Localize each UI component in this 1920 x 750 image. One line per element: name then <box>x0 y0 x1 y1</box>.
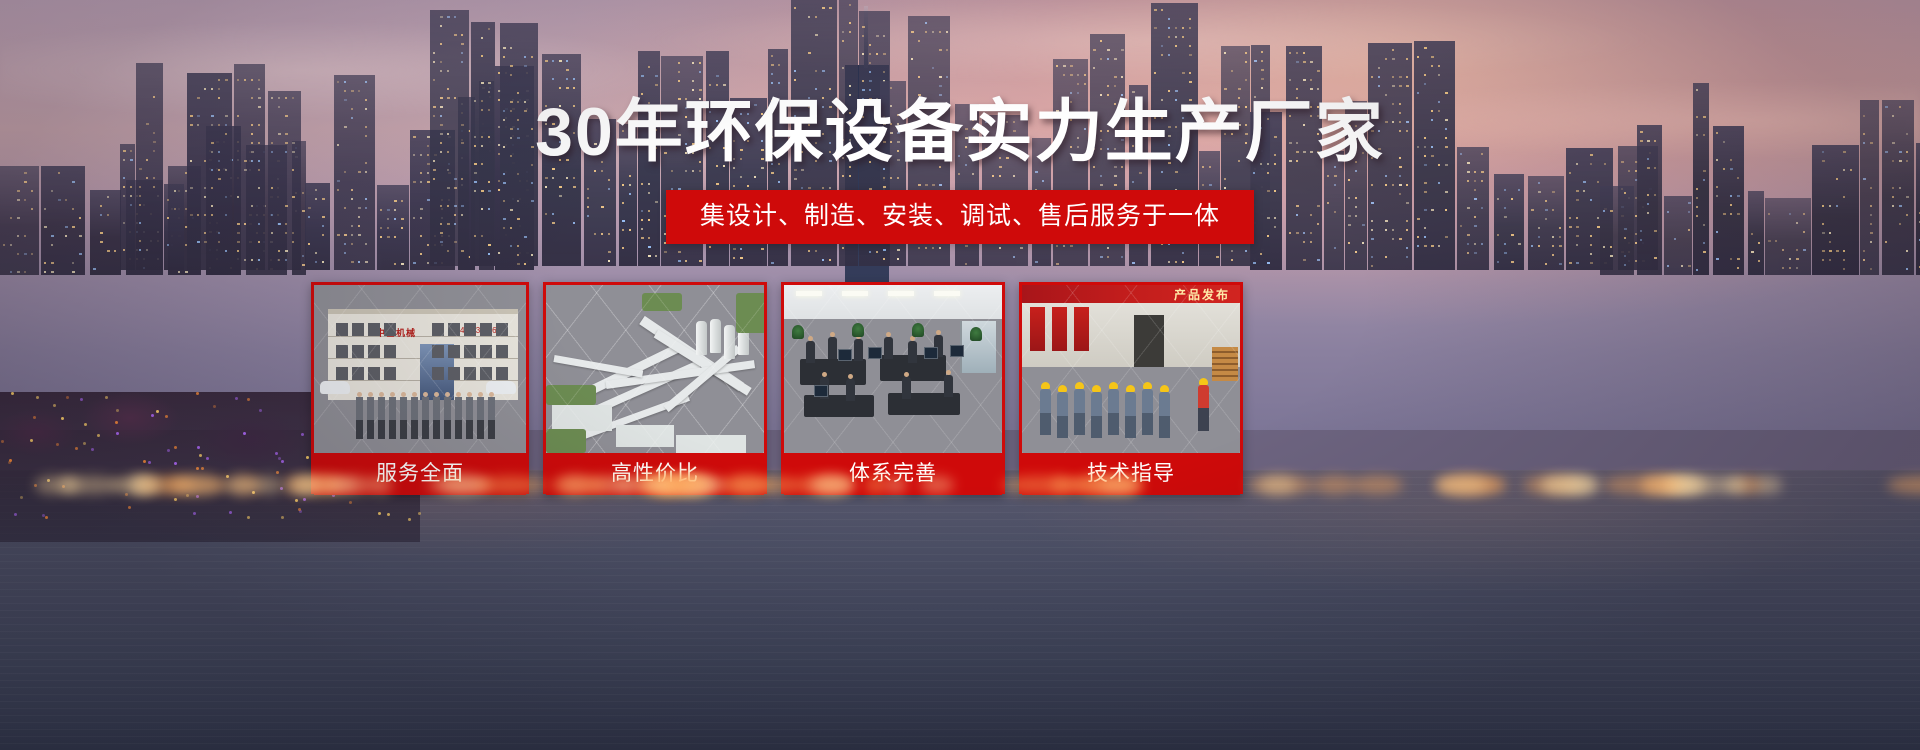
building-window <box>496 345 508 358</box>
building-window <box>352 323 364 336</box>
park-light <box>295 499 298 502</box>
feature-card[interactable]: 体系完善 <box>781 282 1005 494</box>
building-window <box>336 345 348 358</box>
monitor <box>924 347 938 359</box>
shore-light <box>1352 476 1403 494</box>
park-light <box>281 516 284 519</box>
park-light <box>156 410 159 413</box>
subtitle-ribbon: 集设计、制造、安装、调试、售后服务于一体 <box>666 190 1254 244</box>
shore-light <box>1435 476 1487 494</box>
supervisor <box>1198 385 1209 431</box>
park-light <box>408 518 411 521</box>
park-light <box>213 405 216 408</box>
building-window <box>432 367 444 380</box>
park-light <box>301 433 304 436</box>
park-light <box>61 417 64 420</box>
staff-person <box>422 397 429 439</box>
staff-person <box>411 397 418 439</box>
potted-plant <box>792 325 804 339</box>
office-person <box>828 337 837 359</box>
workshop-banner-text: 产品发布 <box>1022 285 1240 305</box>
park-light <box>186 494 189 497</box>
shore-light <box>161 476 228 494</box>
park-light <box>276 471 279 474</box>
park-light <box>387 513 390 516</box>
park-light <box>193 512 196 515</box>
staff-person <box>455 397 462 439</box>
staff-person <box>444 397 451 439</box>
park-light <box>20 496 23 499</box>
park-light <box>199 454 202 457</box>
staff-person <box>400 397 407 439</box>
park-light <box>275 452 278 455</box>
park-light <box>281 460 284 463</box>
park-light <box>8 461 11 464</box>
potted-plant <box>912 323 924 337</box>
building-window <box>384 323 396 336</box>
shore-light <box>325 476 356 494</box>
staff-person <box>367 397 374 439</box>
park-light <box>349 501 352 504</box>
park-light <box>97 434 100 437</box>
monitor <box>950 345 964 357</box>
park-light <box>36 396 39 399</box>
park-light <box>196 467 199 470</box>
park-light <box>83 442 86 445</box>
park-light <box>66 396 69 399</box>
parked-car <box>320 381 350 394</box>
park-light <box>91 448 94 451</box>
vertical-banner <box>1030 307 1045 351</box>
shore-light <box>1670 476 1744 494</box>
shore-light <box>1314 476 1356 494</box>
office-person <box>884 337 893 359</box>
factory-worker <box>1159 392 1170 438</box>
staff-person <box>466 397 473 439</box>
park-light <box>42 514 45 517</box>
potted-plant <box>970 327 982 341</box>
park-light <box>306 456 309 459</box>
storage-silo <box>710 319 721 353</box>
park-light <box>201 467 204 470</box>
green-area <box>642 293 682 311</box>
park-light <box>115 421 118 424</box>
park-light <box>11 392 14 395</box>
factory-worker <box>1074 389 1085 435</box>
park-light <box>53 404 56 407</box>
shore-light <box>125 476 163 494</box>
green-area <box>736 293 764 333</box>
shore-light <box>61 476 122 494</box>
building-window <box>480 367 492 380</box>
factory-worker <box>1108 389 1119 435</box>
factory-worker <box>1057 392 1068 438</box>
factory-worker <box>1142 389 1153 435</box>
shore-light <box>253 476 283 494</box>
potted-plant <box>852 323 864 337</box>
building-window <box>352 345 364 358</box>
park-light <box>206 457 209 460</box>
park-light <box>167 449 170 452</box>
shore-light <box>765 476 794 494</box>
staff-person <box>433 397 440 439</box>
shore-light <box>1259 476 1296 494</box>
park-light <box>378 512 381 515</box>
subtitle-ribbon-wrap: 集设计、制造、安装、调试、售后服务于一体 <box>0 190 1920 244</box>
building-window <box>368 345 380 358</box>
factory-roof <box>616 425 674 447</box>
workshop-red-banner: 产品发布 <box>1022 285 1240 305</box>
monitor <box>838 349 852 361</box>
monitor <box>868 347 882 359</box>
building-window <box>464 367 476 380</box>
office-person <box>846 379 855 401</box>
office-person <box>944 375 953 397</box>
building-window <box>384 345 396 358</box>
shore-light <box>291 476 323 494</box>
office-person <box>854 339 863 361</box>
building-window <box>432 323 444 336</box>
building-window <box>384 367 396 380</box>
staff-person <box>477 397 484 439</box>
green-area <box>546 385 596 405</box>
ceiling-lamp <box>888 291 914 296</box>
park-light <box>418 512 421 515</box>
building-window <box>464 323 476 336</box>
shore-light <box>920 476 954 494</box>
park-light <box>197 446 200 449</box>
staff-person <box>488 397 495 439</box>
building-window <box>336 367 348 380</box>
storage-silo <box>724 325 735 359</box>
shore-light <box>728 476 769 494</box>
building-window <box>480 345 492 358</box>
park-light <box>14 513 17 516</box>
factory-worker <box>1125 392 1136 438</box>
shore-light <box>612 476 672 494</box>
card-photo-office-interior <box>784 285 1002 453</box>
office-person <box>806 341 815 363</box>
building-window <box>352 367 364 380</box>
feature-card[interactable]: 中基机械 4113456 服务全面 <box>311 282 529 494</box>
card-photo-aerial-plant <box>546 285 764 453</box>
shore-light <box>808 476 854 494</box>
park-light <box>247 516 250 519</box>
building-window <box>448 323 460 336</box>
building-window <box>448 367 460 380</box>
ceiling-lamp <box>934 291 960 296</box>
park-light <box>75 447 78 450</box>
shore-light <box>1071 476 1119 494</box>
building-window <box>480 323 492 336</box>
staff-person <box>378 397 385 439</box>
park-light <box>298 508 301 511</box>
park-light <box>259 409 262 412</box>
park-light <box>148 461 151 464</box>
building-window <box>432 345 444 358</box>
factory-roof <box>676 435 746 453</box>
park-light <box>229 511 232 514</box>
building-window <box>496 367 508 380</box>
hero-banner: 30年环保设备实力生产厂家 集设计、制造、安装、调试、售后服务于一体 中基机械 … <box>0 0 1920 750</box>
park-light <box>196 495 199 498</box>
park-light <box>80 398 83 401</box>
park-light <box>45 516 48 519</box>
shore-light <box>550 476 609 494</box>
card-photo-workshop: 产品发布 <box>1022 285 1240 453</box>
park-light <box>174 446 177 449</box>
park-light <box>128 506 131 509</box>
park-light <box>105 396 108 399</box>
office-person <box>908 341 917 363</box>
staff-person <box>389 397 396 439</box>
vertical-banner <box>1074 307 1089 351</box>
office-desk <box>804 395 874 417</box>
ceiling-lamp <box>842 291 868 296</box>
park-light <box>278 457 281 460</box>
building-window <box>336 323 348 336</box>
shore-light <box>865 476 886 494</box>
card-photo-office-building: 中基机械 4113456 <box>314 285 526 453</box>
page-title: 30年环保设备实力生产厂家 <box>0 98 1920 166</box>
building-window <box>496 323 508 336</box>
ceiling-lamp <box>796 291 822 296</box>
park-light <box>243 432 246 435</box>
park-light <box>151 414 154 417</box>
building-window <box>448 345 460 358</box>
park-light <box>56 443 59 446</box>
park-light <box>196 392 199 395</box>
shore-light <box>885 476 907 494</box>
office-person <box>902 377 911 399</box>
monitor <box>814 385 828 397</box>
park-light <box>33 416 36 419</box>
building-window <box>464 345 476 358</box>
park-light <box>84 423 87 426</box>
workshop-gate <box>1134 315 1164 367</box>
green-area <box>546 429 586 453</box>
material-stack <box>1212 347 1238 381</box>
building-company-name: 中基机械 <box>376 326 416 339</box>
shore-light <box>1001 476 1076 494</box>
park-light <box>116 432 119 435</box>
staff-person <box>356 397 363 439</box>
vertical-banner <box>1052 307 1067 351</box>
feature-card[interactable]: 高性价比 <box>543 282 767 494</box>
park-light <box>247 398 250 401</box>
park-light <box>174 498 177 501</box>
shore-light <box>476 476 546 494</box>
factory-worker <box>1091 392 1102 438</box>
park-light <box>143 460 146 463</box>
park-light <box>30 439 33 442</box>
feature-card[interactable]: 产品发布 技术指导 <box>1019 282 1243 494</box>
feature-card-list: 中基机械 4113456 服务全面 高性价比 体系完善 <box>311 282 1561 494</box>
factory-worker <box>1040 389 1051 435</box>
storage-silo <box>696 321 707 355</box>
park-light <box>174 462 177 465</box>
factory-roof <box>552 405 612 431</box>
park-light <box>116 409 119 412</box>
building-window <box>368 323 380 336</box>
park-light <box>303 498 306 501</box>
park-light <box>1 440 4 443</box>
building-window <box>368 367 380 380</box>
park-light <box>235 397 238 400</box>
park-light <box>165 415 168 418</box>
